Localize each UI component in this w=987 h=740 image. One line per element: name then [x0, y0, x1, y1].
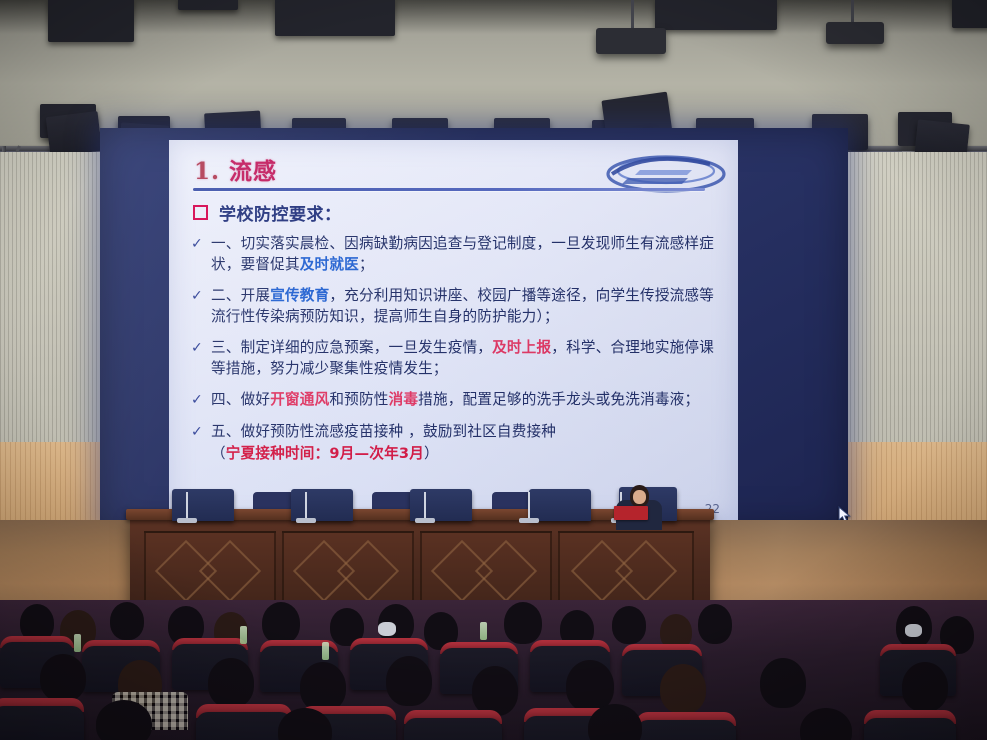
red-nameplate: [614, 506, 648, 520]
audience-head: [208, 658, 254, 708]
text-segment: 和预防性: [329, 391, 388, 408]
audience-head: [612, 606, 646, 644]
water-bottle: [74, 634, 81, 652]
table-microphone: [424, 492, 426, 520]
text-segment: 及时就医: [300, 256, 359, 273]
audience-head: [300, 662, 346, 712]
auditorium-seat: [636, 720, 736, 740]
text-segment: 五、做好预防性流感疫苗接种 ，鼓励到社区自费接种: [211, 423, 556, 440]
bullet-item: ✓二、开展宣传教育，充分利用知识讲座、校园广播等途径，向学生传授流感等流行性传染…: [191, 286, 719, 327]
table-diamond-motif: [475, 540, 537, 602]
ceiling-panel: [178, 0, 238, 10]
microphone-base: [296, 518, 316, 523]
audience-head: [760, 658, 806, 708]
slide-heading: 学校防控要求：: [193, 200, 342, 225]
checkmark-icon: ✓: [191, 390, 204, 410]
table-diamond-motif: [199, 540, 261, 602]
table-diamond-motif: [337, 540, 399, 602]
ceiling-projector: [596, 28, 666, 54]
ceiling-panel: [275, 0, 395, 36]
text-segment: 宁夏接种时间：9月—次年3月: [226, 445, 424, 462]
presentation-slide[interactable]: 1. 流感 学校防控要求： ✓一、切实落实晨检、因病缺勤病因追查与登记制度，一旦…: [169, 140, 738, 522]
ceiling-panel: [655, 0, 777, 30]
slide-title: 1. 流感: [194, 152, 277, 186]
checkmark-icon: ✓: [191, 422, 204, 442]
auditorium-scene: 1. 流感 学校防控要求： ✓一、切实落实晨检、因病缺勤病因追查与登记制度，一旦…: [0, 0, 987, 740]
text-segment: （: [211, 445, 226, 462]
auditorium-seat: [404, 718, 502, 740]
audience-area: [0, 600, 987, 740]
checkmark-icon: ✓: [191, 286, 204, 306]
water-bottle: [480, 622, 487, 640]
square-bullet-icon: [193, 205, 208, 220]
table-microphone: [305, 492, 307, 520]
bullet-item: ✓四、做好开窗通风和预防性消毒措施，配置足够的洗手龙头或免洗消毒液；: [191, 390, 719, 411]
audience-head: [504, 602, 542, 644]
bullet-text: 四、做好开窗通风和预防性消毒措施，配置足够的洗手龙头或免洗消毒液；: [211, 390, 699, 411]
table-panel: [558, 531, 694, 609]
audience-head: [902, 662, 948, 712]
text-segment: ；: [359, 256, 374, 273]
microphone-base: [415, 518, 435, 523]
right-wall-wood-wainscot: [846, 442, 987, 532]
presenter-face: [633, 490, 646, 504]
audience-head: [40, 654, 86, 702]
bullet-item: ✓一、切实落实晨检、因病缺勤病因追查与登记制度，一旦发现师生有流感样症状，要督促…: [191, 234, 719, 275]
audience-head: [660, 664, 706, 714]
bullet-text: 一、切实落实晨检、因病缺勤病因追查与登记制度，一旦发现师生有流感样症状，要督促其…: [211, 234, 719, 275]
bullet-text: 五、做好预防性流感疫苗接种 ，鼓励到社区自费接种: [211, 422, 556, 443]
text-segment: 及时上报: [492, 339, 551, 356]
slide-title-number: 1.: [194, 158, 220, 185]
text-segment: 宣传教育: [270, 287, 329, 304]
auditorium-seat: [0, 706, 84, 740]
stage-light-fixture: [46, 111, 102, 157]
ceiling-panel: [48, 0, 134, 42]
text-segment: 四、做好: [211, 391, 270, 408]
audience-head: [698, 604, 732, 644]
water-bottle: [240, 626, 247, 644]
microphone-base: [519, 518, 539, 523]
stage-chair: [529, 489, 591, 521]
bullet-text: 二、开展宣传教育，充分利用知识讲座、校园广播等途径，向学生传授流感等流行性传染病…: [211, 286, 719, 327]
stage-chair: [410, 489, 472, 521]
bullet-item: （宁夏接种时间：9月—次年3月）: [191, 444, 719, 465]
text-segment: 二、开展: [211, 287, 270, 304]
text-segment: 一、切实落实晨检、因病缺勤病因追查与登记制度，一旦发现师生有流感样症状，要督促其: [211, 235, 714, 273]
table-panel: [144, 531, 276, 609]
audience-head: [472, 666, 518, 716]
left-wall-wood-wainscot: [0, 442, 102, 532]
face-mask: [378, 622, 396, 636]
bullet-item: ✓三、制定详细的应急预案，一旦发生疫情，及时上报，科学、合理地实施停课等措施，努…: [191, 338, 719, 379]
slide-title-text: 流感: [229, 158, 277, 185]
ceiling-panel: [952, 0, 987, 28]
table-panel: [282, 531, 414, 609]
audience-head: [96, 700, 152, 740]
table-microphone: [528, 492, 530, 520]
bullet-list: ✓一、切实落实晨检、因病缺勤病因追查与登记制度，一旦发现师生有流感样症状，要督促…: [191, 234, 719, 476]
right-wall-acoustic-panel: [846, 152, 987, 442]
text-segment: ）: [424, 445, 439, 462]
text-segment: 三、制定详细的应急预案，一旦发生疫情，: [211, 339, 492, 356]
title-divider-rule: [193, 188, 705, 191]
audience-head: [800, 708, 852, 740]
audience-head: [588, 704, 642, 740]
text-segment: 开窗通风: [270, 391, 329, 408]
audience-head: [110, 602, 144, 640]
slide-heading-text: 学校防控要求：: [219, 200, 342, 225]
table-diamond-motif: [615, 540, 677, 602]
microphone-base: [177, 518, 197, 523]
bullet-text: 三、制定详细的应急预案，一旦发生疫情，及时上报，科学、合理地实施停课等措施，努力…: [211, 338, 719, 379]
left-wall-acoustic-panel: [0, 152, 102, 442]
bullet-item: ✓五、做好预防性流感疫苗接种 ，鼓励到社区自费接种: [191, 422, 719, 443]
face-mask: [905, 624, 922, 637]
audience-head: [262, 602, 300, 644]
checkmark-icon: ✓: [191, 338, 204, 358]
ceiling-projector: [826, 22, 884, 44]
text-segment: 措施，配置足够的洗手龙头或免洗消毒液；: [418, 391, 699, 408]
table-microphone: [186, 492, 188, 520]
stage-chair: [172, 489, 234, 521]
table-panel: [420, 531, 552, 609]
checkmark-icon: ✓: [191, 234, 204, 254]
stage-chair: [291, 489, 353, 521]
water-bottle: [322, 642, 329, 660]
bullet-text: （宁夏接种时间：9月—次年3月）: [211, 444, 439, 465]
auditorium-seat: [864, 718, 956, 740]
text-segment: 消毒: [389, 391, 419, 408]
audience-head: [386, 656, 432, 706]
